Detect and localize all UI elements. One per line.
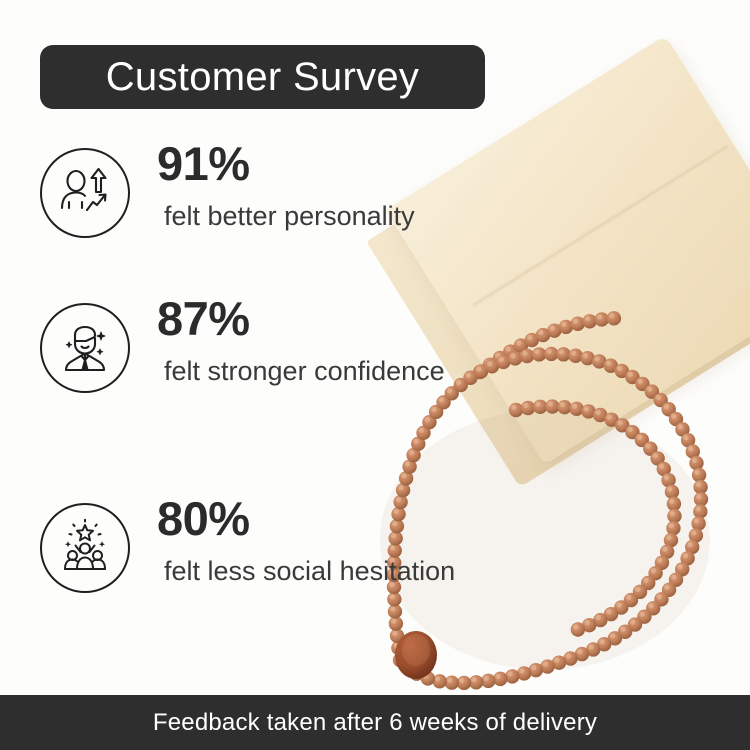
- stat-row: 87% felt stronger confidence: [40, 295, 510, 495]
- person-growth-arrow-icon: [40, 148, 130, 238]
- stat-row: 91% felt better personality: [40, 140, 510, 295]
- survey-stats-list: 91% felt better personality: [40, 140, 510, 645]
- stat-label: felt less social hesitation: [164, 554, 455, 589]
- page-title-badge: Customer Survey: [40, 45, 485, 109]
- footer-note: Feedback taken after 6 weeks of delivery: [153, 709, 597, 737]
- customer-survey-infographic: Customer Survey 91% felt better personal…: [0, 0, 750, 750]
- stat-percent: 91%: [157, 140, 415, 187]
- stat-percent: 87%: [157, 295, 445, 342]
- group-celebration-star-icon: [40, 503, 130, 593]
- stat-text-block: 87% felt stronger confidence: [157, 295, 445, 389]
- stat-text-block: 91% felt better personality: [157, 140, 415, 234]
- confident-businessman-sparkle-icon: [40, 303, 130, 393]
- stat-percent: 80%: [157, 495, 455, 542]
- footer-note-bar: Feedback taken after 6 weeks of delivery: [0, 695, 750, 750]
- cloth-fold-line: [472, 146, 727, 307]
- page-title: Customer Survey: [106, 57, 419, 97]
- stat-label: felt better personality: [164, 199, 415, 234]
- stat-label: felt stronger confidence: [164, 354, 445, 389]
- stat-text-block: 80% felt less social hesitation: [157, 495, 455, 589]
- stat-row: 80% felt less social hesitation: [40, 495, 510, 645]
